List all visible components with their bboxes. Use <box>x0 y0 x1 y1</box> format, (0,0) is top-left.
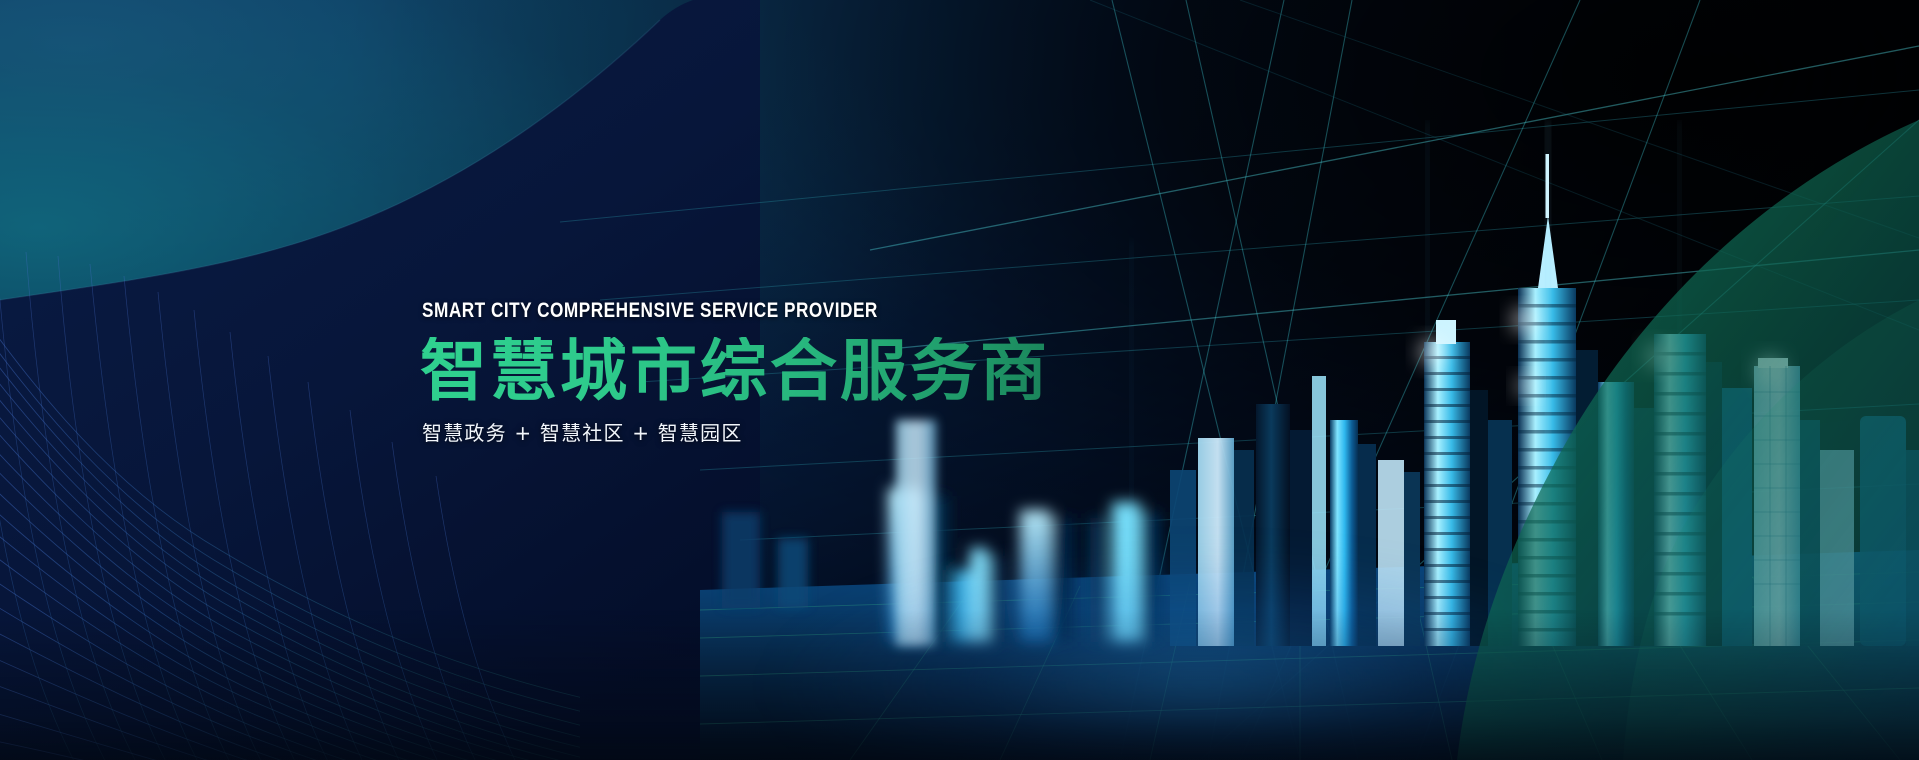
hero-eyebrow-text: SMART CITY COMPREHENSIVE SERVICE PROVIDE… <box>422 300 1044 321</box>
mid-right-towers <box>896 420 936 646</box>
detailed-skyline <box>1256 154 1919 646</box>
hero-subline-text: 智慧政务 + 智慧社区 + 智慧园区 <box>422 423 1180 443</box>
hero-copy-block: SMART CITY COMPREHENSIVE SERVICE PROVIDE… <box>420 300 1180 443</box>
hero-headline-text: 智慧城市综合服务商 <box>420 337 1180 407</box>
smart-city-hero-banner: SMART CITY COMPREHENSIVE SERVICE PROVIDE… <box>0 0 1919 760</box>
